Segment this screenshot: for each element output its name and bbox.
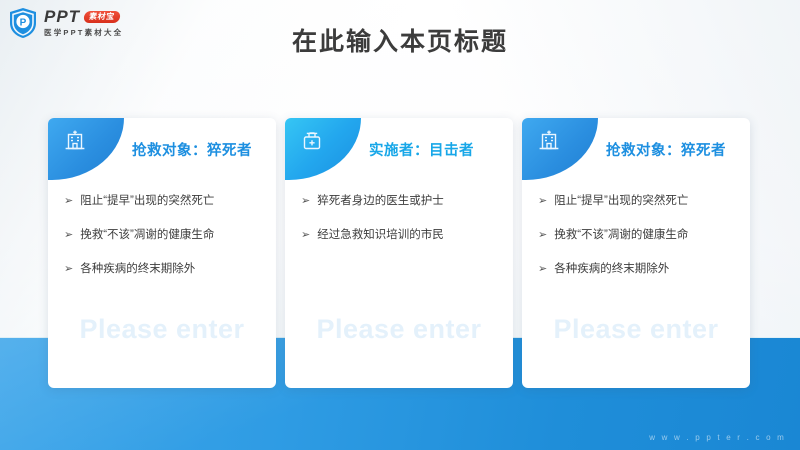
list-item: ➢ 挽救“不该”凋谢的健康生命 bbox=[64, 228, 266, 243]
bullet-arrow-icon: ➢ bbox=[301, 228, 310, 242]
list-item: ➢ 挽救“不该”凋谢的健康生命 bbox=[538, 228, 740, 243]
list-item-label: 经过急救知识培训的市民 bbox=[317, 228, 444, 243]
card-group: 抢救对象：猝死者 ➢ 阻止“提早”出现的突然死亡 ➢ 挽救“不该”凋谢的健康生命… bbox=[0, 0, 800, 450]
brand-logo[interactable]: P PPT 素材宝 医学PPT素材大全 bbox=[8, 6, 123, 40]
bullet-arrow-icon: ➢ bbox=[301, 194, 310, 208]
bullet-arrow-icon: ➢ bbox=[538, 262, 547, 276]
bullet-arrow-icon: ➢ bbox=[538, 228, 547, 242]
list-item-label: 挽救“不该”凋谢的健康生命 bbox=[80, 228, 214, 243]
bullet-arrow-icon: ➢ bbox=[538, 194, 547, 208]
card-placeholder-text[interactable]: Please enter bbox=[522, 314, 750, 345]
list-item-label: 阻止“提早”出现的突然死亡 bbox=[554, 194, 688, 209]
card-placeholder-text[interactable]: Please enter bbox=[48, 314, 276, 345]
list-item: ➢ 猝死者身边的医生或护士 bbox=[301, 194, 503, 209]
card-bullet-list: ➢ 阻止“提早”出现的突然死亡 ➢ 挽救“不该”凋谢的健康生命 ➢ 各种疾病的终… bbox=[538, 194, 740, 296]
card-title: 抢救对象：猝死者 bbox=[606, 118, 742, 180]
card-bullet-list: ➢ 猝死者身边的医生或护士 ➢ 经过急救知识培训的市民 bbox=[301, 194, 503, 262]
list-item-label: 各种疾病的终末期除外 bbox=[554, 262, 669, 277]
list-item: ➢ 各种疾病的终末期除外 bbox=[538, 262, 740, 277]
list-item-label: 挽救“不该”凋谢的健康生命 bbox=[554, 228, 688, 243]
info-card[interactable]: 抢救对象：猝死者 ➢ 阻止“提早”出现的突然死亡 ➢ 挽救“不该”凋谢的健康生命… bbox=[522, 118, 750, 388]
list-item: ➢ 各种疾病的终末期除外 bbox=[64, 262, 266, 277]
logo-tagline: 医学PPT素材大全 bbox=[44, 27, 123, 38]
hospital-building-icon bbox=[536, 128, 562, 154]
medical-kit-icon bbox=[299, 128, 325, 154]
list-item: ➢ 阻止“提早”出现的突然死亡 bbox=[64, 194, 266, 209]
bullet-arrow-icon: ➢ bbox=[64, 228, 73, 242]
info-card[interactable]: 抢救对象：猝死者 ➢ 阻止“提早”出现的突然死亡 ➢ 挽救“不该”凋谢的健康生命… bbox=[48, 118, 276, 388]
card-placeholder-text[interactable]: Please enter bbox=[285, 314, 513, 345]
site-watermark: w w w . p p t e r . c o m bbox=[649, 433, 786, 442]
bullet-arrow-icon: ➢ bbox=[64, 194, 73, 208]
list-item-label: 阻止“提早”出现的突然死亡 bbox=[80, 194, 214, 209]
card-title: 抢救对象：猝死者 bbox=[132, 118, 268, 180]
list-item-label: 各种疾病的终末期除外 bbox=[80, 262, 195, 277]
shield-icon: P bbox=[8, 7, 38, 39]
logo-brand-text: PPT bbox=[44, 8, 80, 25]
bullet-arrow-icon: ➢ bbox=[64, 262, 73, 276]
card-bullet-list: ➢ 阻止“提早”出现的突然死亡 ➢ 挽救“不该”凋谢的健康生命 ➢ 各种疾病的终… bbox=[64, 194, 266, 296]
svg-text:P: P bbox=[20, 18, 27, 29]
card-title: 实施者：目击者 bbox=[369, 118, 505, 180]
list-item: ➢ 经过急救知识培训的市民 bbox=[301, 228, 503, 243]
list-item-label: 猝死者身边的医生或护士 bbox=[317, 194, 444, 209]
logo-badge: 素材宝 bbox=[83, 11, 120, 23]
list-item: ➢ 阻止“提早”出现的突然死亡 bbox=[538, 194, 740, 209]
hospital-building-icon bbox=[62, 128, 88, 154]
info-card[interactable]: 实施者：目击者 ➢ 猝死者身边的医生或护士 ➢ 经过急救知识培训的市民 Plea… bbox=[285, 118, 513, 388]
